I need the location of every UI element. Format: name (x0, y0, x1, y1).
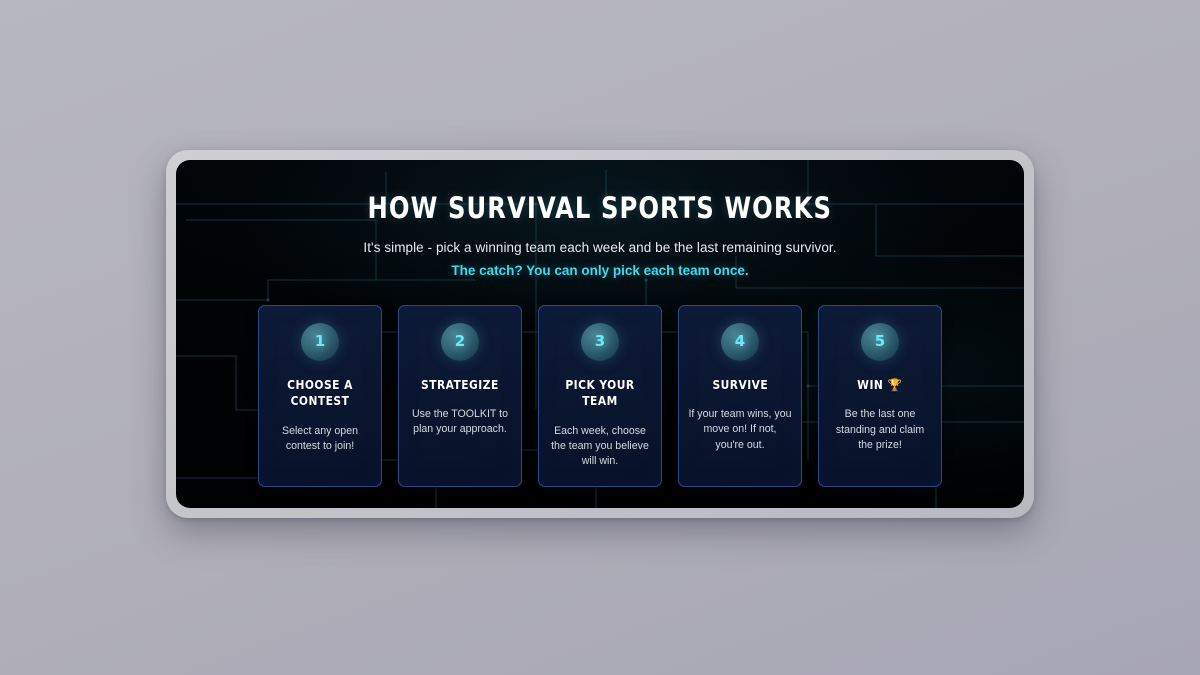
step-card-5[interactable]: 5 WIN 🏆 Be the last one standing and cla… (818, 305, 942, 487)
step-card-4[interactable]: 4 SURVIVE If your team wins, you move on… (678, 305, 802, 487)
step-description: If your team wins, you move on! If not, … (688, 407, 792, 453)
step-title: SURVIVE (712, 377, 768, 394)
step-badge-icon: 5 (861, 323, 899, 361)
step-number: 1 (315, 334, 325, 349)
header-subtitle: It's simple - pick a winning team each w… (363, 240, 836, 255)
step-badge-icon: 4 (721, 323, 759, 361)
step-card-2[interactable]: 2 STRATEGIZE Use the TOOLKIT to plan you… (398, 305, 522, 487)
step-description: Select any open contest to join! (268, 424, 372, 455)
step-number: 3 (595, 334, 605, 349)
page-title: HOW SURVIVAL SPORTS WORKS (368, 194, 833, 223)
trophy-icon: 🏆 (888, 378, 903, 392)
step-description: Use the TOOLKIT to plan your approach. (408, 407, 512, 438)
steps-row: 1 CHOOSE A CONTEST Select any open conte… (258, 305, 942, 487)
step-title: STRATEGIZE (421, 377, 499, 394)
step-description: Be the last one standing and claim the p… (828, 407, 932, 453)
step-number: 4 (735, 334, 745, 349)
step-badge-icon: 2 (441, 323, 479, 361)
step-number: 5 (875, 334, 885, 349)
step-title: WIN 🏆 (857, 377, 902, 394)
step-description: Each week, choose the team you believe w… (548, 424, 652, 470)
device-frame: HOW SURVIVAL SPORTS WORKS It's simple - … (166, 150, 1034, 518)
step-title-text: WIN (857, 377, 883, 392)
screen-panel: HOW SURVIVAL SPORTS WORKS It's simple - … (176, 160, 1024, 508)
step-title: CHOOSE A CONTEST (271, 377, 370, 410)
header-catch-line: The catch? You can only pick each team o… (451, 263, 748, 278)
step-number: 2 (455, 334, 465, 349)
step-card-1[interactable]: 1 CHOOSE A CONTEST Select any open conte… (258, 305, 382, 487)
step-badge-icon: 1 (301, 323, 339, 361)
step-card-3[interactable]: 3 PICK YOUR TEAM Each week, choose the t… (538, 305, 662, 487)
step-title: PICK YOUR TEAM (551, 377, 650, 410)
content-area: HOW SURVIVAL SPORTS WORKS It's simple - … (176, 160, 1024, 508)
step-badge-icon: 3 (581, 323, 619, 361)
